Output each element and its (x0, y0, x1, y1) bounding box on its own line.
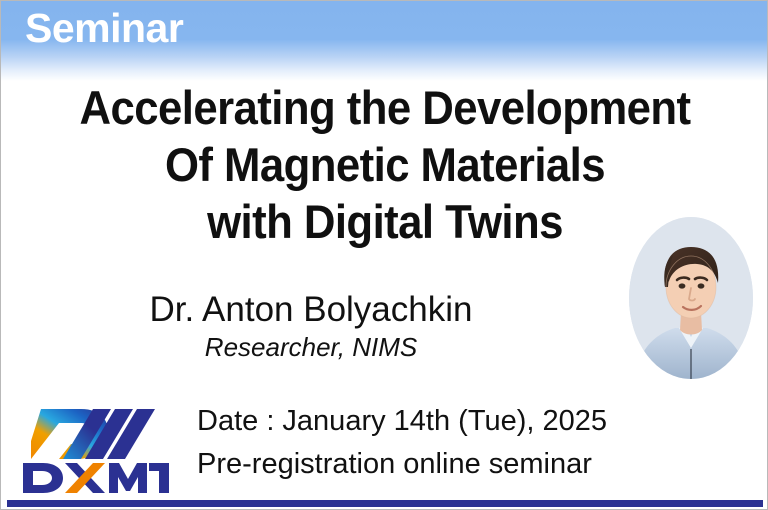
bottom-rule (7, 500, 763, 507)
seminar-title: Accelerating the Development Of Magnetic… (1, 79, 768, 250)
dxmt-logo (19, 393, 169, 493)
speaker-name: Dr. Anton Bolyachkin (1, 289, 621, 331)
seminar-poster: Seminar Accelerating the Development Of … (0, 0, 768, 510)
dxmt-logo-mark (19, 393, 169, 493)
speaker-portrait (629, 217, 753, 379)
speaker-block: Dr. Anton Bolyachkin Researcher, NIMS (1, 289, 621, 363)
category-label: Seminar (25, 6, 183, 51)
title-line-1: Accelerating the Development (28, 79, 742, 136)
speaker-affiliation: Researcher, NIMS (1, 331, 621, 363)
registration-note: Pre-registration online seminar (197, 443, 717, 486)
title-line-2: Of Magnetic Materials (28, 136, 742, 193)
title-line-3: with Digital Twins (28, 193, 742, 250)
header-band: Seminar (1, 1, 768, 81)
event-details: Date : January 14th (Tue), 2025 Pre-regi… (197, 400, 717, 486)
portrait-illustration (629, 217, 753, 379)
event-date: Date : January 14th (Tue), 2025 (197, 400, 717, 443)
